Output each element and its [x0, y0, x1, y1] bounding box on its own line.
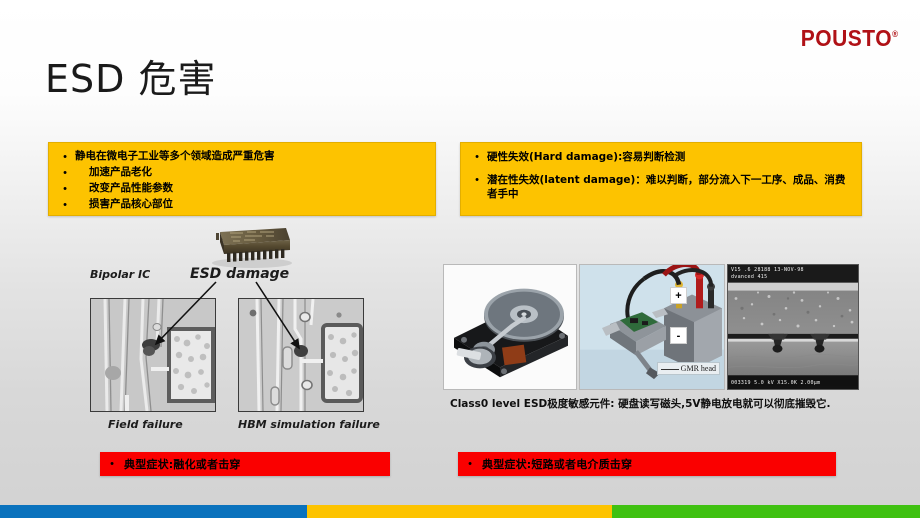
- gmr-head-label: GMR head: [657, 362, 720, 375]
- callout-right-line-1: 硬性失效(Hard damage):容易判断检测: [487, 150, 685, 164]
- figure-group-right: + - GMR head: [443, 264, 859, 394]
- callout-left-line-3: 改变产品性能参数: [75, 182, 173, 195]
- micrograph-field-failure: [90, 298, 216, 412]
- caption-field-failure: Field failure: [108, 418, 183, 431]
- callout-right-line-2: 潜在性失效(latent damage)：难以判断，部分流入下一工序、成品、消费…: [487, 173, 851, 201]
- bullet-icon: •: [55, 150, 75, 165]
- conclusion-bar-right-text: 典型症状:短路或者电介质击穿: [482, 456, 632, 472]
- callout-left-line-2: 加速产品老化: [75, 166, 152, 179]
- list-item: • 静电在微电子工业等多个领域造成严重危害: [55, 150, 425, 165]
- sem-overlay-top-secondary: dvanced 415: [728, 274, 858, 280]
- footer-segment-blue: [0, 505, 307, 518]
- callout-left-line-4: 损害产品核心部位: [75, 198, 173, 211]
- photo-strip: + - GMR head: [443, 264, 859, 390]
- list-item: • 硬性失效(Hard damage):容易判断检测: [467, 150, 851, 165]
- list-item: • 加速产品老化: [55, 166, 425, 181]
- hdd-image: [444, 265, 576, 389]
- footer-segment-green: [612, 505, 920, 518]
- slide-canvas: POUSTO® ESD 危害 • 静电在微电子工业等多个领域造成严重危害 • 加…: [0, 0, 920, 518]
- bullet-icon: •: [100, 458, 124, 470]
- list-item: • 损害产品核心部位: [55, 198, 425, 213]
- brand-logo: POUSTO®: [801, 26, 898, 53]
- micrograph-1-image: [91, 299, 215, 411]
- bullet-icon: •: [55, 166, 75, 181]
- callout-box-right: • 硬性失效(Hard damage):容易判断检测 • 潜在性失效(laten…: [460, 142, 862, 216]
- callout-box-left: • 静电在微电子工业等多个领域造成严重危害 • 加速产品老化 • 改变产品性能参…: [48, 142, 436, 216]
- sem-overlay-bottom: 003319 5.0 kV X15.0K 2.00µm: [728, 380, 858, 386]
- figure-group-left: Bipolar IC ESD damage: [48, 226, 436, 441]
- gmr-head-label-text: GMR head: [681, 364, 716, 373]
- photo-gmr-head-setup: + - GMR head: [579, 264, 725, 390]
- caption-class0-esd: Class0 level ESD极度敏感元件: 硬盘读写磁头,5V静电放电就可以…: [450, 396, 870, 411]
- registered-trademark-icon: ®: [892, 29, 898, 39]
- caption-hbm-simulation-failure: HBM simulation failure: [238, 418, 380, 431]
- conclusion-bar-left: • 典型症状:融化或者击穿: [100, 452, 390, 476]
- list-item: • 改变产品性能参数: [55, 182, 425, 197]
- sem-overlay-top: V15 .6 28188 13-NOV-98: [728, 267, 858, 273]
- page-title: ESD 危害: [45, 48, 216, 103]
- list-item: • 潜在性失效(latent damage)：难以判断，部分流入下一工序、成品、…: [467, 173, 851, 201]
- footer-color-strip: [0, 505, 920, 518]
- negative-terminal-label: -: [670, 327, 687, 344]
- bullet-icon: •: [467, 173, 487, 188]
- brand-logo-text: POUSTO: [801, 26, 892, 52]
- label-bipolar-ic: Bipolar IC: [90, 268, 150, 281]
- micrograph-hbm-simulation-failure: [238, 298, 364, 412]
- positive-terminal-label: +: [670, 287, 687, 304]
- conclusion-bar-right: • 典型症状:短路或者电介质击穿: [458, 452, 836, 476]
- sem-image: [728, 265, 858, 389]
- photo-sem-micrograph: V15 .6 28188 13-NOV-98 dvanced 415 00331…: [727, 264, 859, 390]
- dip-ic-package-image: [200, 226, 298, 268]
- conclusion-bar-left-text: 典型症状:融化或者击穿: [124, 456, 241, 472]
- bullet-icon: •: [55, 182, 75, 197]
- label-esd-damage: ESD damage: [190, 266, 289, 282]
- bullet-icon: •: [55, 198, 75, 213]
- callout-left-line-1: 静电在微电子工业等多个领域造成严重危害: [75, 150, 275, 163]
- bullet-icon: •: [467, 150, 487, 165]
- footer-segment-yellow: [307, 505, 612, 518]
- bullet-icon: •: [458, 458, 482, 470]
- leader-line-icon: [661, 369, 679, 370]
- micrograph-2-image: [239, 299, 363, 411]
- photo-hard-disk-drive: [443, 264, 577, 390]
